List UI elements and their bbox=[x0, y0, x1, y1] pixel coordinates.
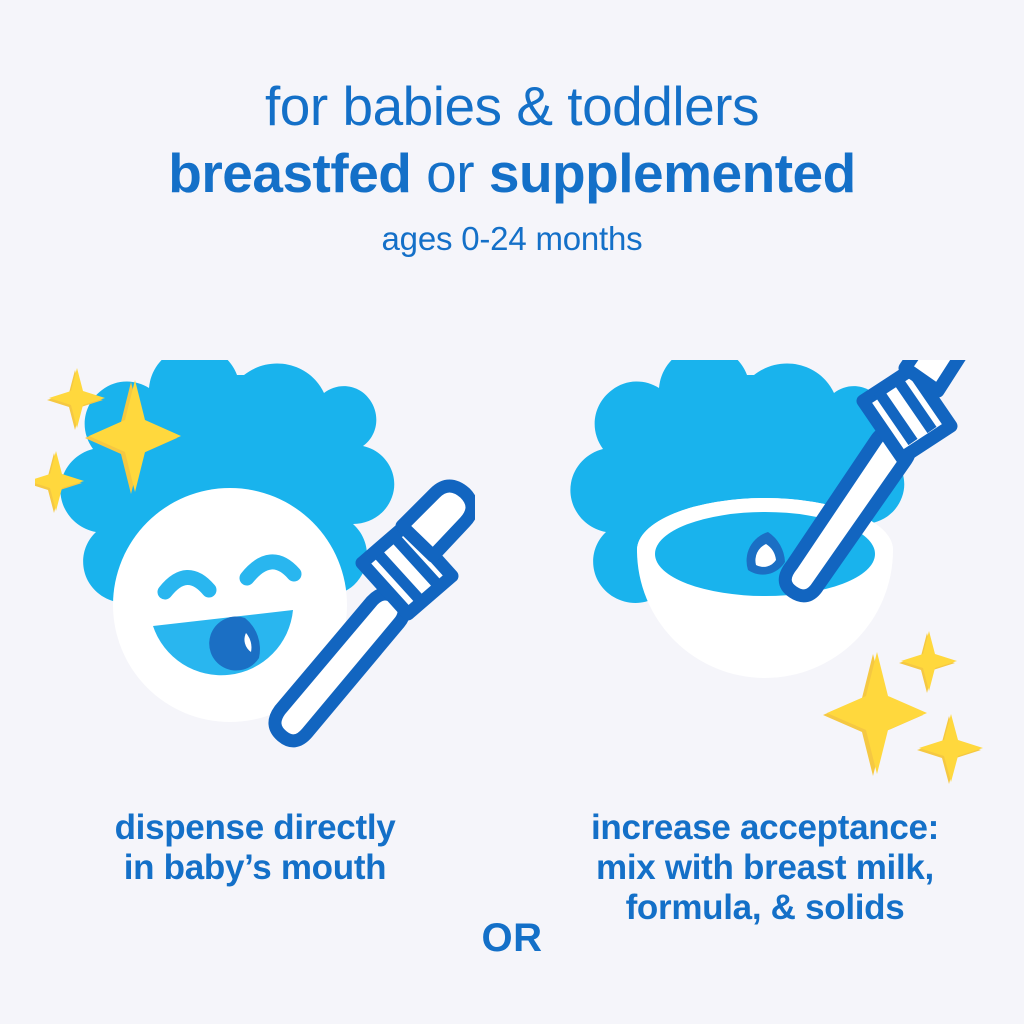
headline-subtitle: ages 0-24 months bbox=[0, 219, 1024, 259]
caption-mix-with-food: increase acceptance: mix with breast mil… bbox=[530, 808, 1000, 928]
infographic-root: for babies & toddlers breastfed or suppl… bbox=[0, 0, 1024, 1024]
captions-block: dispense directly in baby’s mouth increa… bbox=[0, 808, 1024, 968]
caption-line: in baby’s mouth bbox=[30, 848, 480, 888]
header-block: for babies & toddlers breastfed or suppl… bbox=[0, 74, 1024, 259]
headline-bold-supplemented: supplemented bbox=[489, 142, 856, 204]
headline-plain-or: or bbox=[411, 142, 488, 204]
headline-line-2: breastfed or supplemented bbox=[0, 141, 1024, 205]
caption-line: formula, & solids bbox=[530, 888, 1000, 928]
caption-line: dispense directly bbox=[30, 808, 480, 848]
caption-line: increase acceptance: bbox=[530, 808, 1000, 848]
sparkles-icon bbox=[823, 631, 983, 784]
option-illustration-dispense-directly bbox=[35, 360, 475, 810]
option-illustration-mix-with-food bbox=[545, 360, 985, 810]
illustration-panels: OR bbox=[0, 360, 1024, 830]
caption-dispense-directly: dispense directly in baby’s mouth bbox=[30, 808, 480, 888]
headline-line-1: for babies & toddlers bbox=[0, 74, 1024, 138]
caption-line: mix with breast milk, bbox=[530, 848, 1000, 888]
headline-bold-breastfed: breastfed bbox=[168, 142, 411, 204]
